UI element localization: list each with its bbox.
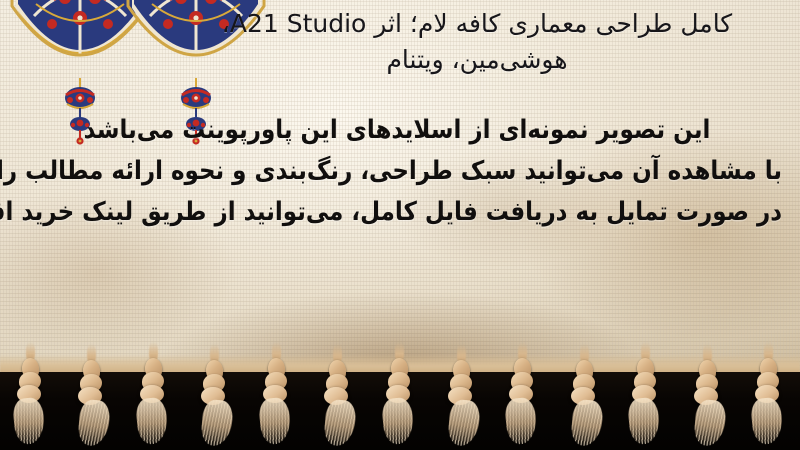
fringe-tassel [746, 352, 792, 448]
body-line-1: این تصویر نمونه‌ای از اسلایدهای این پاور… [12, 108, 782, 154]
fringe-whisk [570, 399, 604, 447]
fringe-whisk [77, 399, 111, 447]
fringe-tassel [439, 354, 485, 450]
fringe-whisk [12, 397, 47, 446]
fringe-tassel [377, 352, 423, 448]
carpet-fringe-tassels [0, 352, 800, 450]
fringe-tassel [8, 352, 54, 448]
slide-title-line-1: کامل طراحی معماری کافه لام؛ اثر A21 Stud… [182, 6, 772, 42]
body-line-2: با مشاهده آن می‌توانید سبک طراحی، رنگ‌بن… [12, 149, 782, 195]
fringe-whisk [750, 397, 785, 446]
fringe-whisk [323, 399, 357, 447]
fringe-whisk [447, 399, 481, 447]
fringe-whisk [504, 397, 539, 446]
fringe-tassel [562, 354, 608, 450]
fringe-tassel [254, 352, 300, 448]
slide-body-text: این تصویر نمونه‌ای از اسلایدهای این پاور… [12, 108, 782, 231]
fringe-whisk [627, 397, 662, 446]
fringe-tassel [623, 352, 669, 448]
slide-title: کامل طراحی معماری کافه لام؛ اثر A21 Stud… [182, 6, 772, 78]
fringe-tassel [315, 354, 361, 450]
fringe-tassel [192, 354, 238, 450]
fringe-whisk [200, 399, 234, 447]
fringe-whisk [381, 397, 416, 446]
slide-title-line-2: هوشی‌مین، ویتنام [182, 42, 772, 78]
fringe-whisk [258, 397, 293, 446]
slide-canvas: کامل طراحی معماری کافه لام؛ اثر A21 Stud… [0, 0, 800, 450]
fringe-tassel [69, 354, 115, 450]
fringe-tassel [500, 352, 546, 448]
fringe-whisk [693, 399, 727, 447]
body-line-3: در صورت تمایل به دریافت فایل کامل، می‌تو… [12, 190, 782, 236]
fringe-tassel [131, 352, 177, 448]
fringe-tassel [685, 354, 731, 450]
fringe-whisk [135, 397, 170, 446]
